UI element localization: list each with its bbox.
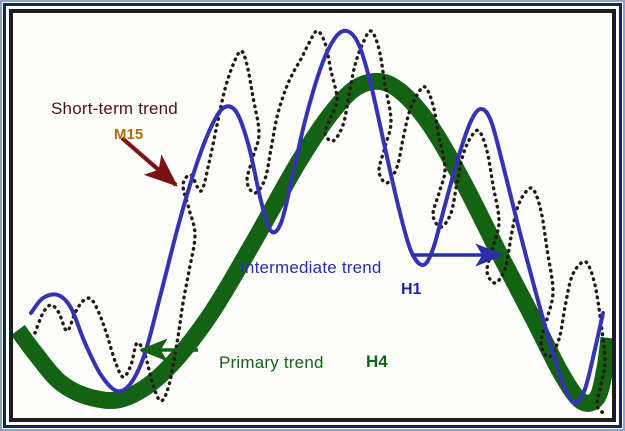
primary-trend-label: Primary trend [219,353,324,373]
short-term-trend-label: Short-term trend [51,99,178,119]
primary-timeframe-label: H4 [366,352,388,372]
plot-surface: Short-term trend M15 Intermediate trend … [13,13,612,418]
short-term-timeframe-label: M15 [114,126,143,143]
intermediate-trend-label: Intermediate trend [240,258,382,278]
intermediate-timeframe-label: H1 [401,281,421,299]
trend-diagram-figure: Short-term trend M15 Intermediate trend … [0,0,625,431]
intermediate-trend-curve [31,31,603,403]
short-term-arrow [122,138,176,185]
